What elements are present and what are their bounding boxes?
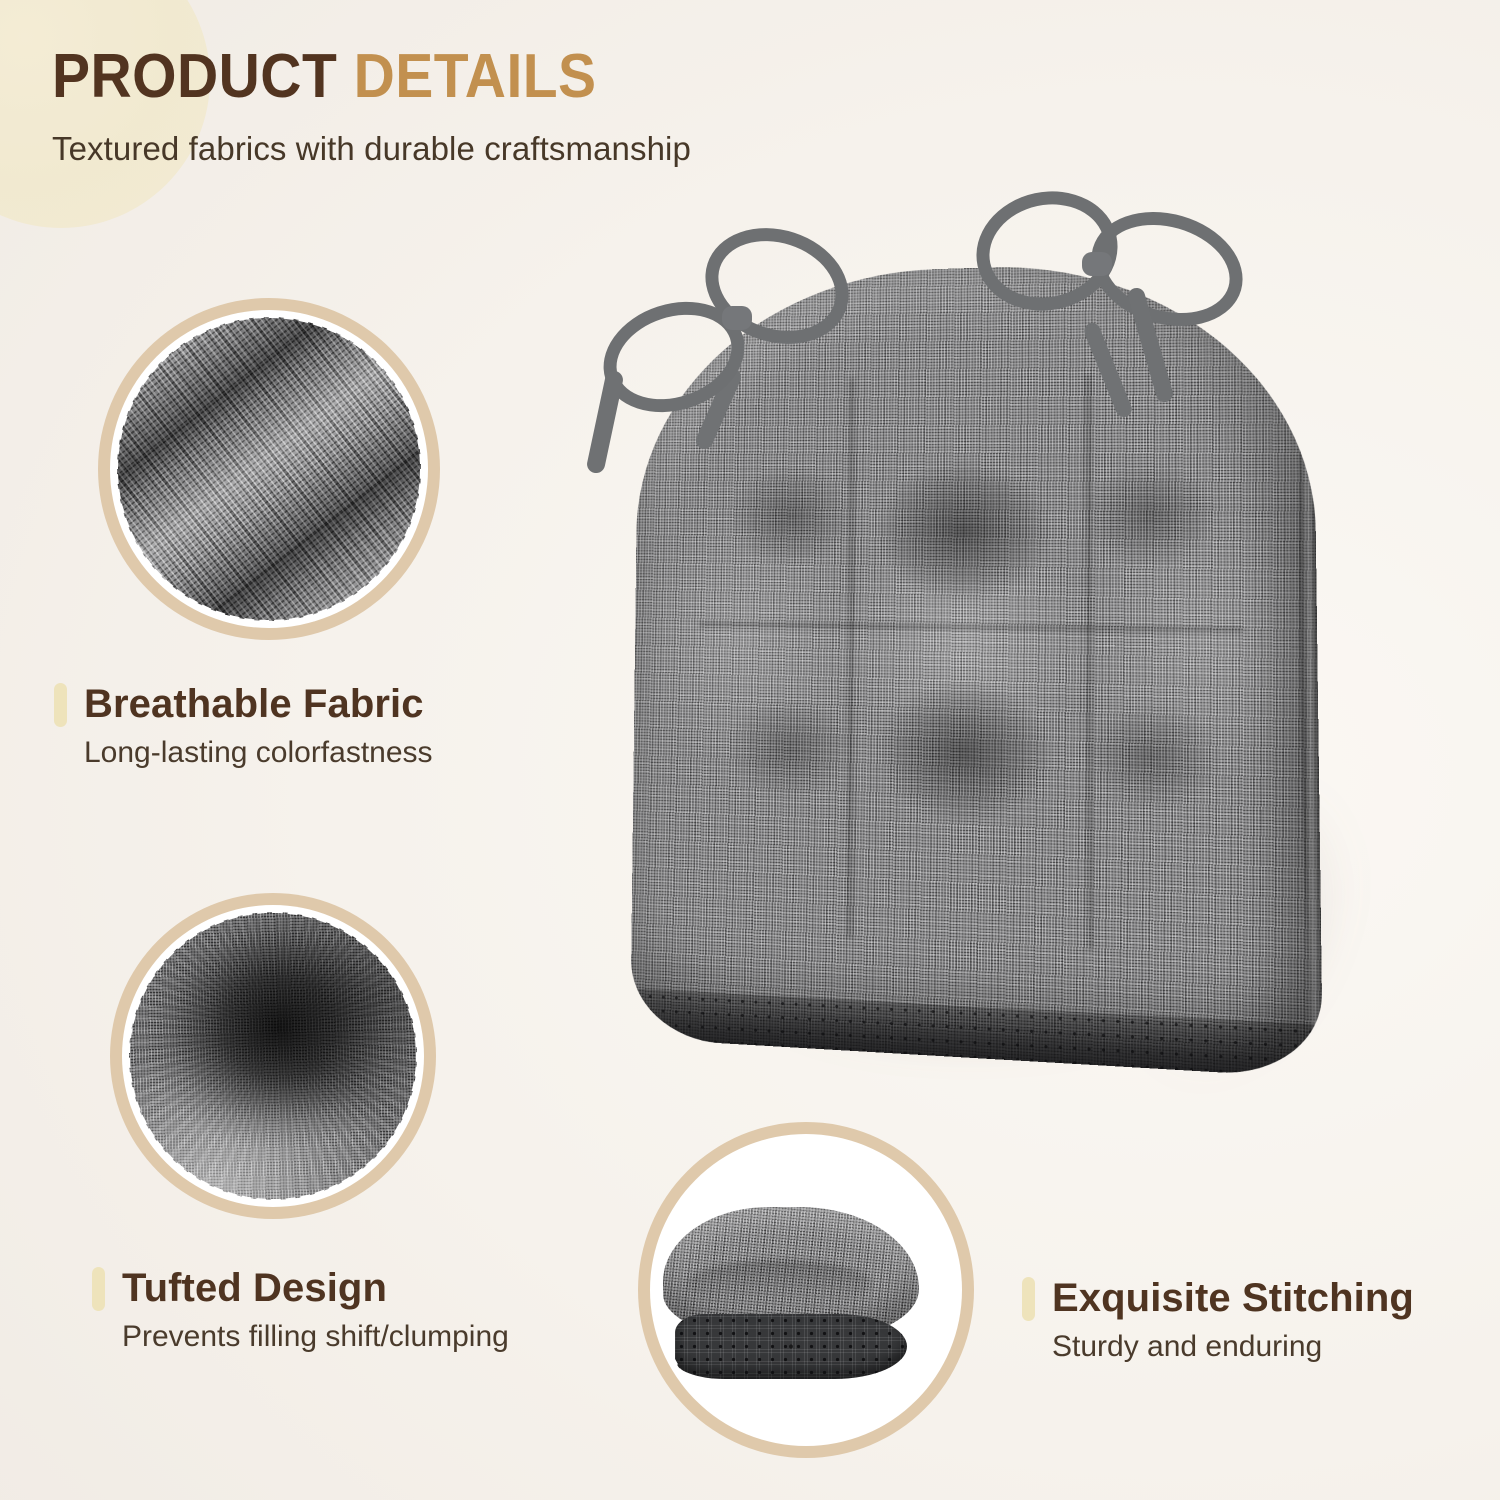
page-title: PRODUCT DETAILS: [52, 46, 880, 108]
product-hero-image: [560, 170, 1350, 1120]
title-word-details: DETAILS: [354, 42, 597, 111]
cushion-tuck-seam: [687, 1260, 872, 1308]
page-header: PRODUCT DETAILS Textured fabrics with du…: [52, 46, 952, 168]
feature-title: Breathable Fabric: [84, 682, 424, 727]
feature-title: Exquisite Stitching: [1052, 1276, 1414, 1321]
cushion-side-profile-photo: [657, 1141, 955, 1439]
page-subtitle: Textured fabrics with durable craftsmans…: [52, 130, 952, 168]
tie-bow-left: [596, 222, 846, 422]
tie-bow-right: [966, 178, 1236, 388]
accent-pill-marker: [92, 1267, 105, 1311]
feature-subtitle: Sturdy and enduring: [1052, 1330, 1414, 1364]
feature-tufted-design: Tufted Design Prevents filling shift/clu…: [92, 1266, 509, 1354]
accent-pill-marker: [1022, 1277, 1035, 1321]
tufted-depression-photo: [129, 912, 417, 1200]
product-details-page: PRODUCT DETAILS Textured fabrics with du…: [0, 0, 1500, 1500]
tuft-shadow-core: [129, 912, 417, 1200]
accent-pill-marker: [54, 683, 67, 727]
fabric-rolls-photo: [117, 317, 421, 621]
bow-knot: [1082, 252, 1112, 276]
feature-breathable-fabric: Breathable Fabric Long-lasting colorfast…: [54, 682, 433, 770]
bow-tail: [585, 369, 624, 474]
bow-knot: [722, 306, 752, 330]
callout-tufted-design: [110, 893, 436, 1219]
feature-subtitle: Prevents filling shift/clumping: [122, 1320, 509, 1354]
feature-exquisite-stitching: Exquisite Stitching Sturdy and enduring: [1022, 1276, 1414, 1364]
feature-subtitle: Long-lasting colorfastness: [84, 736, 433, 770]
non-slip-backing: [675, 1314, 907, 1380]
callout-breathable-fabric: [98, 298, 440, 640]
feature-title: Tufted Design: [122, 1266, 387, 1311]
title-word-product: PRODUCT: [52, 42, 337, 111]
callout-exquisite-stitching: [638, 1122, 974, 1458]
fabric-roll-group: [117, 317, 421, 621]
